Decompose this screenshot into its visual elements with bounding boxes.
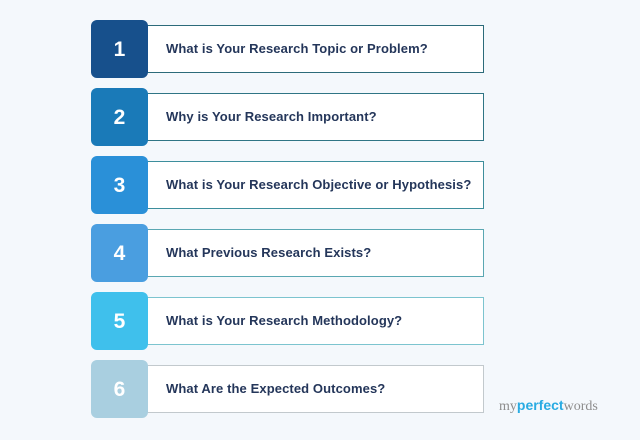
step-label: What is Your Research Objective or Hypot… <box>144 177 471 193</box>
step-number: 2 <box>114 107 126 128</box>
step-label: Why is Your Research Important? <box>144 109 377 125</box>
research-questions-infographic: What is Your Research Topic or Problem?1… <box>0 0 640 440</box>
step-number: 4 <box>114 243 126 264</box>
step-number: 5 <box>114 311 126 332</box>
step-number-badge: 3 <box>91 156 148 214</box>
step-label: What Are the Expected Outcomes? <box>144 381 385 397</box>
step-number-badge: 2 <box>91 88 148 146</box>
step-card: What Are the Expected Outcomes? <box>143 365 484 413</box>
step-row: What Are the Expected Outcomes?6 <box>91 360 484 418</box>
logo-part-perfect: perfect <box>517 397 564 413</box>
step-card: What is Your Research Methodology? <box>143 297 484 345</box>
step-card: What Previous Research Exists? <box>143 229 484 277</box>
step-number-badge: 6 <box>91 360 148 418</box>
step-row: What is Your Research Objective or Hypot… <box>91 156 484 214</box>
step-number: 1 <box>114 39 126 60</box>
step-card: Why is Your Research Important? <box>143 93 484 141</box>
step-card: What is Your Research Topic or Problem? <box>143 25 484 73</box>
step-number: 3 <box>114 175 126 196</box>
step-card: What is Your Research Objective or Hypot… <box>143 161 484 209</box>
step-row: What is Your Research Topic or Problem?1 <box>91 20 484 78</box>
step-number-badge: 5 <box>91 292 148 350</box>
logo-part-words: words <box>564 399 598 414</box>
step-row: Why is Your Research Important?2 <box>91 88 484 146</box>
step-label: What is Your Research Topic or Problem? <box>144 41 428 57</box>
step-number-badge: 1 <box>91 20 148 78</box>
step-number-badge: 4 <box>91 224 148 282</box>
logo-part-my: my <box>499 399 517 414</box>
step-label: What is Your Research Methodology? <box>144 313 402 329</box>
myperfectwords-logo: myperfectwords <box>499 398 598 414</box>
step-number: 6 <box>114 379 126 400</box>
step-row: What is Your Research Methodology?5 <box>91 292 484 350</box>
step-label: What Previous Research Exists? <box>144 245 371 261</box>
step-row: What Previous Research Exists?4 <box>91 224 484 282</box>
